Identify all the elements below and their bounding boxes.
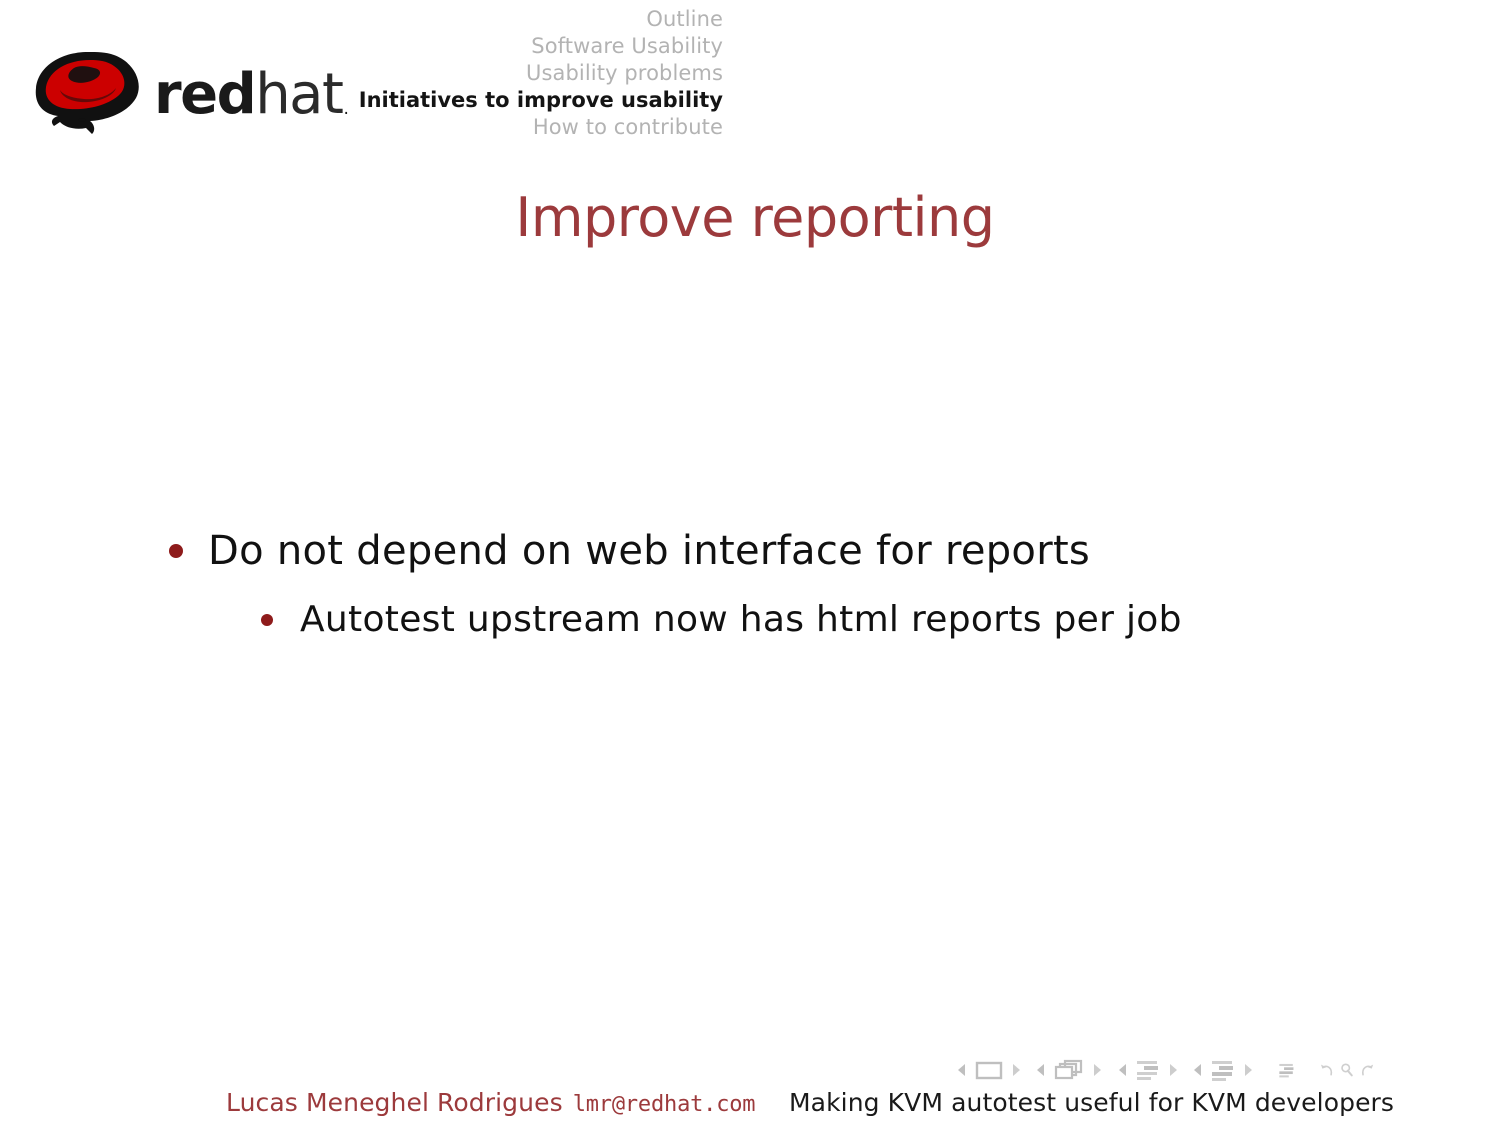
bullet-level1: Do not depend on web interface for repor… [0,520,1510,582]
next-section-arrow-icon[interactable] [1242,1062,1255,1078]
slide-content: Do not depend on web interface for repor… [0,520,1510,648]
footer-presentation-title: Making KVM autotest useful for KVM devel… [789,1088,1394,1117]
bullet-level2: Autotest upstream now has html reports p… [0,592,1510,648]
slide-title: Improve reporting [0,186,1510,249]
section-nav-group [1191,1058,1255,1082]
slide-icon[interactable] [974,1059,1004,1081]
bullet-marker-icon [169,544,183,558]
navigation-outline: Outline Software Usability Usability pro… [300,6,723,141]
prev-subsection-arrow-icon[interactable] [1116,1062,1129,1078]
doc-icon[interactable] [1278,1058,1295,1082]
prev-frame-arrow-icon[interactable] [1034,1062,1047,1078]
redhat-logo: redhat. [30,48,330,138]
slide-header: redhat. Outline Software Usability Usabi… [0,0,1510,150]
nav-item-usability-problems[interactable]: Usability problems [300,60,723,87]
subsection-nav-group [1116,1058,1180,1082]
subsection-icon[interactable] [1135,1058,1161,1082]
next-frame-arrow-icon[interactable] [1091,1062,1104,1078]
bullet-level1-text: Do not depend on web interface for repor… [208,528,1090,574]
wordmark-red: red [154,62,255,127]
search-icon[interactable] [1339,1059,1355,1081]
back-icon[interactable] [1319,1059,1335,1081]
section-icon[interactable] [1210,1058,1236,1082]
nav-item-how-to-contribute[interactable]: How to contribute [300,114,723,141]
beamer-navigation-symbols [955,1053,1375,1087]
frames-icon[interactable] [1053,1058,1085,1082]
slide-nav-group [955,1059,1023,1081]
frame-nav-group [1034,1058,1104,1082]
nav-item-software-usability[interactable]: Software Usability [300,33,723,60]
next-subsection-arrow-icon[interactable] [1167,1062,1180,1078]
prev-section-arrow-icon[interactable] [1191,1062,1204,1078]
footer-author-email: lmr@redhat.com [573,1092,756,1117]
redhat-shadowman-icon [30,50,148,136]
bullet-level2-text: Autotest upstream now has html reports p… [300,599,1182,640]
nav-item-outline[interactable]: Outline [300,6,723,33]
footer-author-block: Lucas Meneghel Rodrigueslmr@redhat.com [226,1088,755,1117]
sub-bullet-marker-icon [261,614,273,626]
nav-item-initiatives-to-improve-usability[interactable]: Initiatives to improve usability [300,87,723,114]
footer-author-name: Lucas Meneghel Rodrigues [226,1088,563,1117]
forward-icon[interactable] [1359,1059,1375,1081]
next-slide-arrow-icon[interactable] [1010,1062,1023,1078]
slide-footer: Lucas Meneghel Rodrigueslmr@redhat.com M… [0,1088,1510,1133]
prev-slide-arrow-icon[interactable] [955,1062,968,1078]
